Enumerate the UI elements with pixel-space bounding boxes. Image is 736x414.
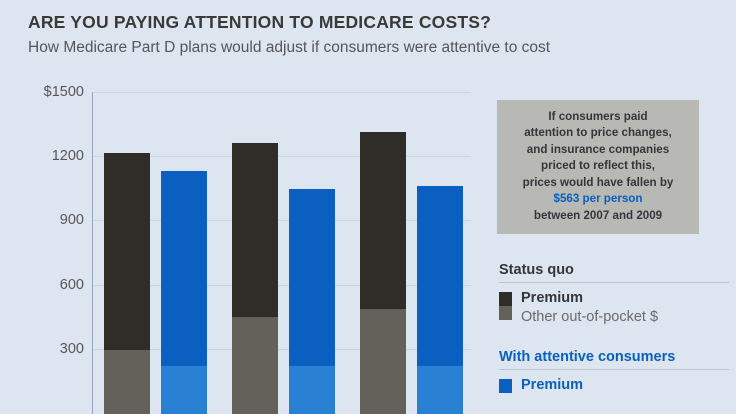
bar-group-3-status-quo: [360, 132, 406, 414]
chart-legend: Status quo Premium Other out-of-pocket $…: [499, 262, 729, 395]
bar-group-1-attentive: [161, 171, 207, 414]
bar-segment-premium-status-quo-3: [360, 132, 406, 309]
bar-segment-other-out-of-pocket-attentive-2: [289, 366, 335, 414]
bar-group-1-status-quo: [104, 153, 150, 414]
bar-segment-premium-attentive-2: [289, 189, 335, 366]
legend-label-premium-status-quo: Premium: [521, 289, 729, 308]
annotation-callout: If consumers paid attention to price cha…: [497, 100, 699, 234]
bar-segment-other-out-of-pocket-status-quo-1: [104, 350, 150, 414]
y-axis-tick-label-600: 600: [12, 277, 84, 293]
legend-swatch-stack-attentive: [499, 379, 512, 393]
y-axis-tick-label-300: 300: [12, 341, 84, 357]
bar-group-3-attentive: [417, 186, 463, 414]
annotation-line-3: and insurance companies: [527, 143, 669, 156]
legend-swatch-other-out-of-pocket-status-quo: [499, 306, 512, 320]
bar-segment-other-out-of-pocket-status-quo-3: [360, 309, 406, 414]
bar-segment-premium-attentive-3: [417, 186, 463, 366]
legend-heading-status-quo: Status quo: [499, 262, 729, 283]
annotation-line-4: priced to reflect this,: [541, 159, 655, 172]
legend-swatch-premium-status-quo: [499, 292, 512, 306]
annotation-line-1: If consumers paid: [548, 110, 647, 123]
bar-segment-other-out-of-pocket-attentive-3: [417, 366, 463, 414]
gridline-1500: [93, 92, 471, 93]
y-axis-tick-label-900: 900: [12, 212, 84, 228]
legend-items-attentive: Premium: [499, 376, 729, 395]
annotation-line-7: between 2007 and 2009: [534, 209, 662, 222]
legend-label-other-out-of-pocket-status-quo: Other out-of-pocket $: [521, 308, 729, 327]
legend-heading-attentive: With attentive consumers: [499, 349, 729, 370]
annotation-line-2: attention to price changes,: [524, 126, 672, 139]
y-axis-tick-label-1500: $1500: [12, 84, 84, 100]
bar-segment-premium-attentive-1: [161, 171, 207, 366]
bar-segment-premium-status-quo-2: [232, 143, 278, 316]
legend-label-premium-attentive: Premium: [521, 376, 729, 395]
legend-swatch-premium-attentive: [499, 379, 512, 393]
annotation-line-5: prices would have fallen by: [523, 176, 674, 189]
bar-group-2-status-quo: [232, 143, 278, 414]
y-axis-tick-label-1200: 1200: [12, 148, 84, 164]
bar-segment-other-out-of-pocket-attentive-1: [161, 366, 207, 414]
legend-group-attentive: With attentive consumers Premium: [499, 349, 729, 395]
legend-items-status-quo: Premium Other out-of-pocket $: [499, 289, 729, 327]
bar-group-2-attentive: [289, 189, 335, 414]
y-axis-line: [92, 92, 93, 414]
y-axis-tick-labels: 3006009001200$1500: [8, 0, 84, 414]
annotation-highlight-value: $563 per person: [554, 192, 643, 205]
bar-segment-premium-status-quo-1: [104, 153, 150, 350]
bar-segment-other-out-of-pocket-status-quo-2: [232, 317, 278, 414]
legend-swatch-stack-status-quo: [499, 292, 512, 320]
legend-group-status-quo: Status quo Premium Other out-of-pocket $: [499, 262, 729, 327]
